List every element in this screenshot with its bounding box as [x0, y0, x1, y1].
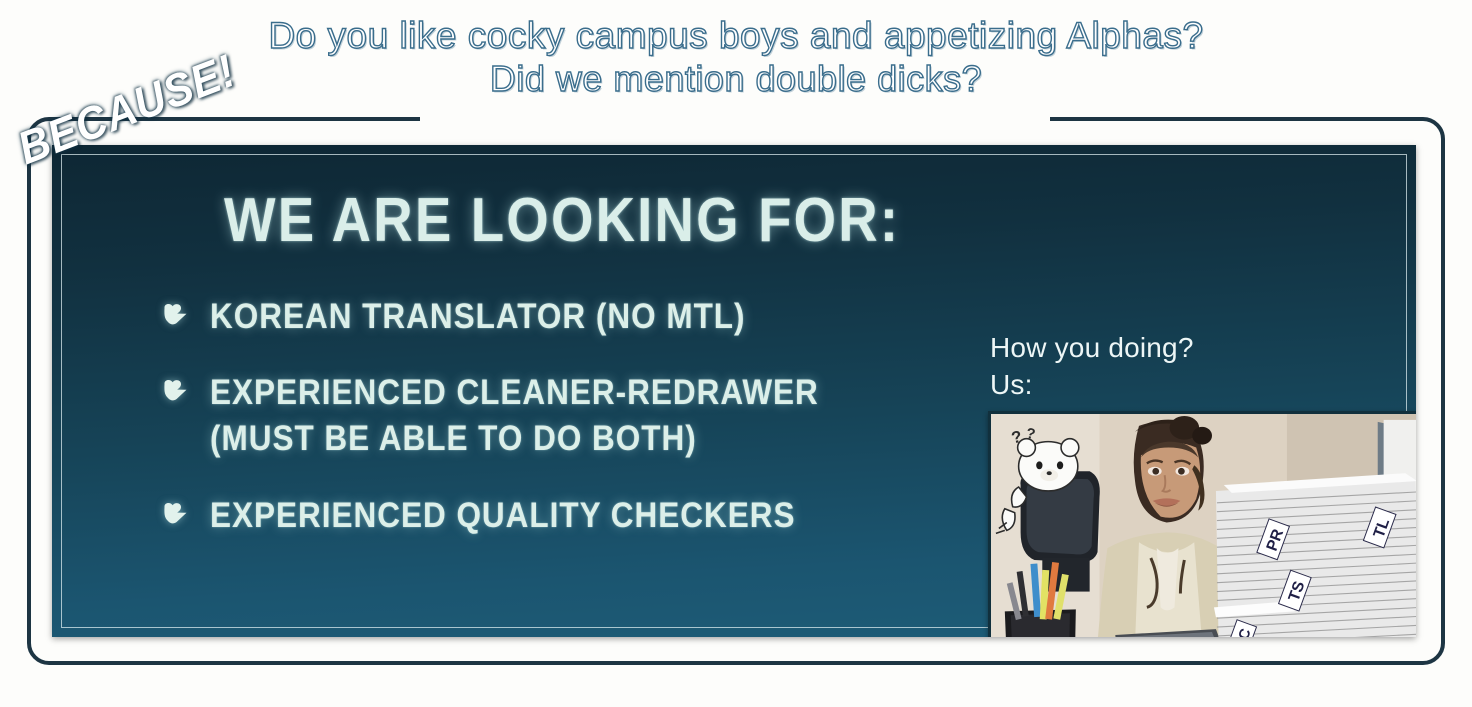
roles-column: WE ARE LOOKING FOR: KOREAN TRANSLATOR (N…	[162, 185, 922, 569]
caption-line-1: How you doing?	[990, 330, 1416, 367]
list-item: EXPERIENCED QUALITY CHECKERS	[162, 493, 922, 539]
main-panel: WE ARE LOOKING FOR: KOREAN TRANSLATOR (N…	[52, 145, 1416, 637]
meme-photo: ? ?	[988, 411, 1416, 637]
role-text: EXPERIENCED QUALITY CHECKERS	[210, 493, 795, 539]
panel-heading: WE ARE LOOKING FOR:	[224, 185, 838, 256]
meme-photo-canvas: ? ?	[991, 414, 1416, 637]
heart-arrow-bullet-icon	[162, 501, 188, 525]
heart-arrow-bullet-icon	[162, 302, 188, 326]
role-line-1: EXPERIENCED QUALITY CHECKERS	[210, 496, 795, 535]
role-line-1: KOREAN TRANSLATOR (NO MTL)	[210, 297, 746, 336]
roles-list: KOREAN TRANSLATOR (NO MTL) EXPERIENCED C…	[162, 294, 922, 539]
role-text: EXPERIENCED CLEANER-REDRAWER (MUST BE AB…	[210, 370, 819, 462]
list-item: EXPERIENCED CLEANER-REDRAWER (MUST BE AB…	[162, 370, 922, 462]
frame-notch	[420, 104, 1050, 132]
role-text: KOREAN TRANSLATOR (NO MTL)	[210, 294, 746, 340]
right-caption-block: How you doing? Us:	[990, 330, 1416, 404]
caption-line-2: Us:	[990, 367, 1416, 404]
heart-arrow-bullet-icon	[162, 378, 188, 402]
role-line-1: EXPERIENCED CLEANER-REDRAWER	[210, 373, 819, 412]
role-line-2: (MUST BE ABLE TO DO BOTH)	[210, 416, 819, 462]
list-item: KOREAN TRANSLATOR (NO MTL)	[162, 294, 922, 340]
